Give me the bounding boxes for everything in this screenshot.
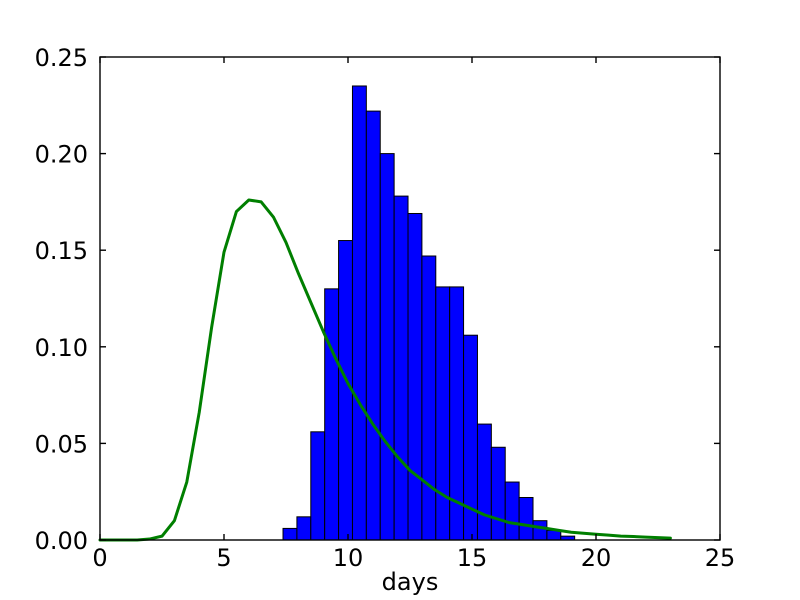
x-tick-label: 25 bbox=[705, 544, 736, 572]
x-axis-label: days bbox=[382, 568, 439, 596]
histogram-bar bbox=[366, 111, 380, 540]
histogram-bar bbox=[380, 154, 394, 540]
histogram-bar bbox=[297, 517, 311, 540]
histogram-bar bbox=[352, 86, 366, 540]
y-tick-label: 0.25 bbox=[35, 44, 88, 72]
histogram-bar bbox=[519, 498, 533, 541]
y-tick-label: 0.15 bbox=[35, 237, 88, 265]
histogram-bar bbox=[533, 521, 547, 540]
x-tick-label: 20 bbox=[581, 544, 612, 572]
histogram-bar bbox=[436, 287, 450, 540]
x-tick-label: 0 bbox=[92, 544, 107, 572]
y-tick-label: 0.05 bbox=[35, 430, 88, 458]
histogram-bar bbox=[408, 213, 422, 540]
histogram-bar bbox=[283, 528, 297, 540]
chart-plot: 05101520250.000.050.100.150.200.25 days bbox=[0, 0, 800, 600]
histogram-bar bbox=[422, 256, 436, 540]
x-tick-label: 15 bbox=[457, 544, 488, 572]
histogram-bar bbox=[394, 196, 408, 540]
histogram-bar bbox=[325, 289, 339, 540]
histogram-bar bbox=[505, 482, 519, 540]
histogram-bar bbox=[311, 432, 325, 540]
histogram-bar bbox=[491, 447, 505, 540]
y-tick-label: 0.20 bbox=[35, 141, 88, 169]
x-tick-label: 5 bbox=[216, 544, 231, 572]
y-tick-label: 0.10 bbox=[35, 334, 88, 362]
figure-canvas: 05101520250.000.050.100.150.200.25 days bbox=[0, 0, 800, 600]
y-tick-label: 0.00 bbox=[35, 527, 88, 555]
x-tick-label: 10 bbox=[333, 544, 364, 572]
histogram-bar bbox=[477, 424, 491, 540]
